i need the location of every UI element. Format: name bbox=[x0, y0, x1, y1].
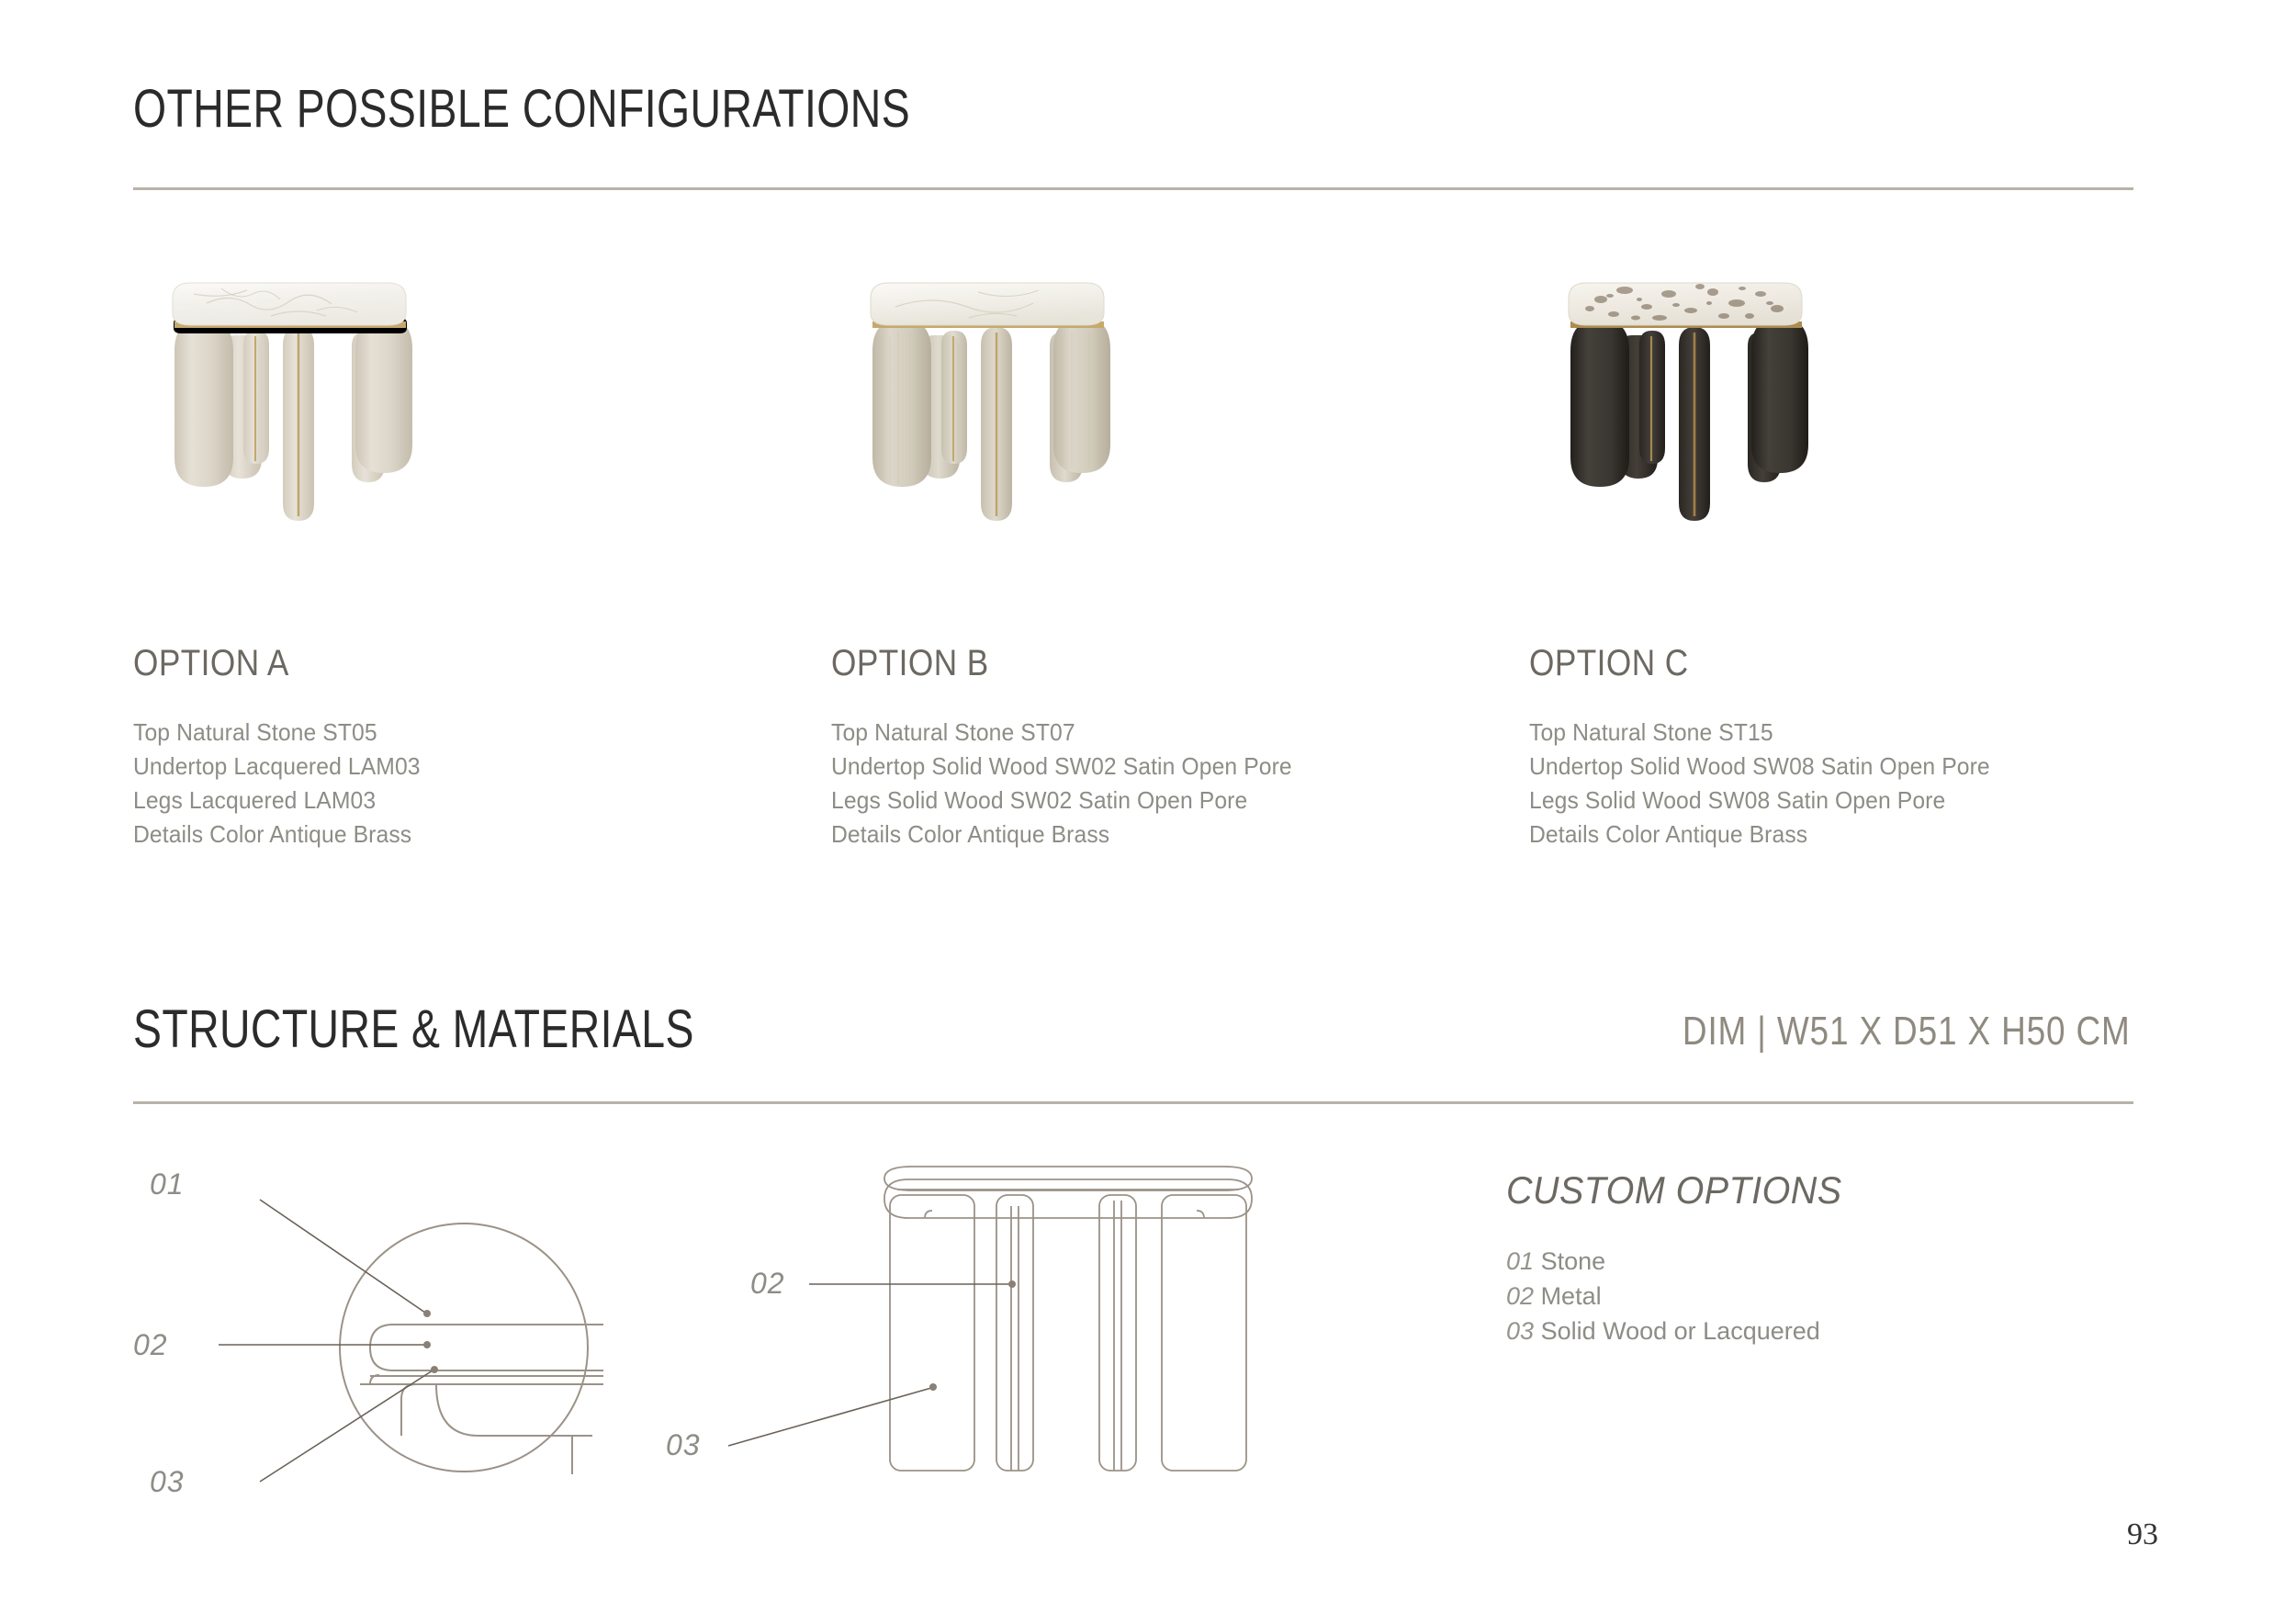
configuration-options-row: OPTION A Top Natural Stone ST05 Undertop… bbox=[133, 276, 2135, 851]
spec-line: Details Color Antique Brass bbox=[831, 818, 1477, 851]
spec-line: Top Natural Stone ST05 bbox=[133, 716, 779, 750]
spec-line: Legs Solid Wood SW02 Satin Open Pore bbox=[831, 784, 1477, 818]
list-item: 01 Stone bbox=[1506, 1244, 2020, 1279]
spec-line: Top Natural Stone ST15 bbox=[1529, 716, 2175, 750]
spec-line: Legs Lacquered LAM03 bbox=[133, 784, 779, 818]
spec-line: Undertop Lacquered LAM03 bbox=[133, 750, 779, 784]
page-title-structure: STRUCTURE & MATERIALS bbox=[133, 1001, 694, 1058]
option-specs-b: Top Natural Stone ST07 Undertop Solid Wo… bbox=[831, 716, 1477, 851]
list-item: 03 Solid Wood or Lacquered bbox=[1506, 1314, 2020, 1348]
spec-line: Top Natural Stone ST07 bbox=[831, 716, 1477, 750]
callout-label-03-detail: 03 bbox=[150, 1465, 185, 1499]
custom-option-label: Metal bbox=[1541, 1282, 1602, 1310]
custom-option-number: 03 bbox=[1506, 1317, 1534, 1345]
table-illustration-b bbox=[831, 276, 1511, 643]
custom-option-label: Solid Wood or Lacquered bbox=[1541, 1317, 1820, 1345]
custom-option-label: Stone bbox=[1541, 1247, 1606, 1275]
table-render-c bbox=[1529, 276, 2209, 643]
callout-label-02-detail: 02 bbox=[133, 1328, 168, 1362]
spec-line: Undertop Solid Wood SW02 Satin Open Pore bbox=[831, 750, 1477, 784]
callout-label-02-elevation: 02 bbox=[750, 1267, 785, 1301]
divider-middle bbox=[133, 1101, 2133, 1104]
table-render-b bbox=[831, 276, 1511, 643]
option-card-a: OPTION A Top Natural Stone ST05 Undertop… bbox=[133, 276, 813, 851]
spec-line: Details Color Antique Brass bbox=[1529, 818, 2175, 851]
option-heading-b: OPTION B bbox=[831, 643, 1429, 684]
spec-line: Legs Solid Wood SW08 Satin Open Pore bbox=[1529, 784, 2175, 818]
table-illustration-a bbox=[133, 276, 813, 643]
page-title-configurations: OTHER POSSIBLE CONFIGURATIONS bbox=[133, 81, 910, 138]
option-card-b: OPTION B Top Natural Stone ST07 Undertop… bbox=[831, 276, 1511, 851]
elevation-diagram bbox=[684, 1153, 1419, 1539]
option-specs-c: Top Natural Stone ST15 Undertop Solid Wo… bbox=[1529, 716, 2175, 851]
table-illustration-c bbox=[1529, 276, 2209, 643]
divider-top bbox=[133, 187, 2133, 190]
custom-option-number: 02 bbox=[1506, 1282, 1534, 1310]
custom-options-list: 01 Stone 02 Metal 03 Solid Wood or Lacqu… bbox=[1506, 1244, 2020, 1348]
callout-label-03-elevation: 03 bbox=[666, 1428, 701, 1462]
table-render-a bbox=[133, 276, 813, 643]
custom-option-number: 01 bbox=[1506, 1247, 1534, 1275]
spec-line: Details Color Antique Brass bbox=[133, 818, 779, 851]
list-item: 02 Metal bbox=[1506, 1279, 2020, 1314]
spec-line: Undertop Solid Wood SW08 Satin Open Pore bbox=[1529, 750, 2175, 784]
option-specs-a: Top Natural Stone ST05 Undertop Lacquere… bbox=[133, 716, 779, 851]
callout-label-01-detail: 01 bbox=[150, 1167, 185, 1201]
page-number: 93 bbox=[2127, 1517, 2158, 1552]
catalog-page: OTHER POSSIBLE CONFIGURATIONS bbox=[0, 0, 2296, 1624]
option-heading-a: OPTION A bbox=[133, 643, 731, 684]
option-card-c: OPTION C Top Natural Stone ST15 Undertop… bbox=[1529, 276, 2209, 851]
custom-options-panel: CUSTOM OPTIONS 01 Stone 02 Metal 03 Soli… bbox=[1506, 1168, 2020, 1348]
dimensions-label: DIM | W51 X D51 X H50 CM bbox=[1683, 1009, 2131, 1054]
custom-options-title: CUSTOM OPTIONS bbox=[1506, 1168, 1989, 1212]
option-heading-c: OPTION C bbox=[1529, 643, 2127, 684]
